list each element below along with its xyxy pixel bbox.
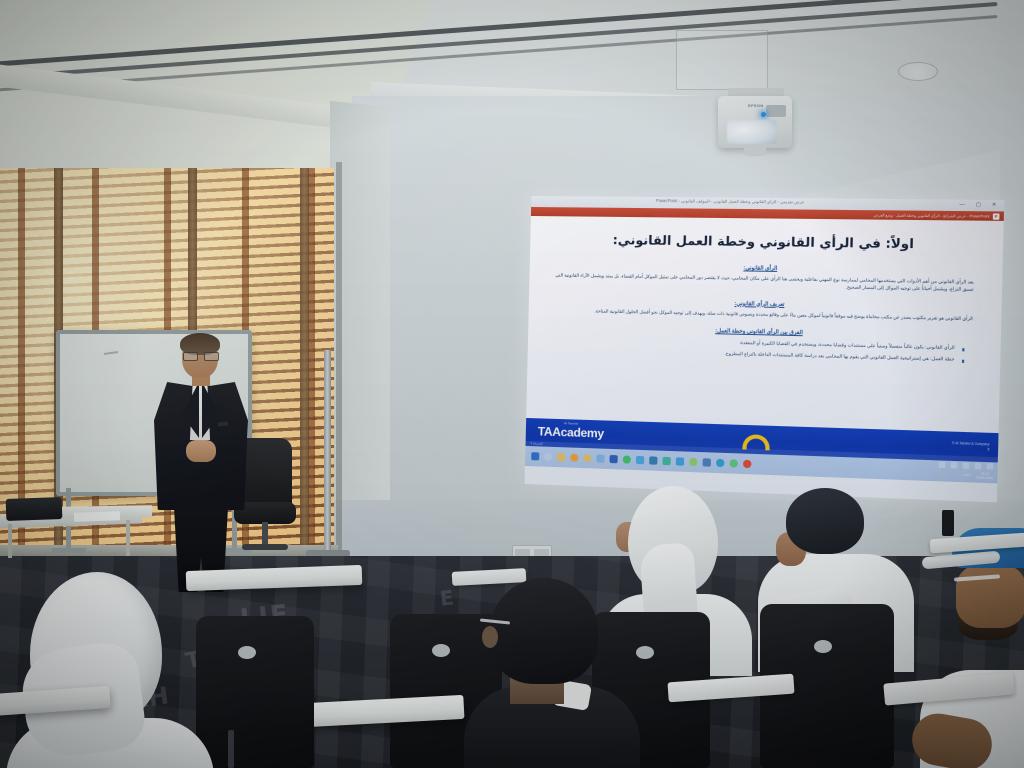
projection-screen: عرض تقديمي - الرأي القانوني وخطة العمل ا… — [525, 196, 1005, 502]
minimize-icon[interactable]: — — [959, 203, 965, 208]
attendee-hair — [490, 578, 598, 684]
projector-lens — [727, 120, 777, 144]
tray-icon-row — [939, 461, 994, 469]
attendee-far-right — [928, 520, 1024, 768]
settings-icon[interactable] — [703, 458, 711, 466]
brand-name: TAAcademy — [538, 424, 604, 440]
blind-cord — [308, 168, 315, 560]
presenter — [148, 336, 254, 588]
battery-icon[interactable] — [963, 462, 970, 469]
attendee-face — [956, 564, 1024, 628]
language-indicator[interactable]: ENG — [963, 473, 970, 477]
brand-word: Academy — [552, 425, 604, 441]
chair-frame — [228, 730, 234, 768]
classroom-scene: EPSON عرض تقديمي - الرأي القانوني وخطة ا… — [0, 0, 1024, 768]
media-icon[interactable] — [583, 454, 591, 462]
whatsapp-icon[interactable] — [623, 455, 631, 463]
laptop-bag — [6, 497, 63, 521]
tray-status-row: ENG 16:15 19/04/2025 — [963, 471, 993, 481]
slide-title: اولاً: في الرأي القانوني وخطة العمل القا… — [556, 231, 975, 252]
eyeglasses-icon — [183, 352, 217, 359]
search-icon[interactable] — [544, 453, 552, 461]
window-title: عرض تقديمي - الرأي القانوني وخطة العمل ا… — [531, 197, 936, 206]
section-body-1: يعد الرأي القانوني من أهم الأدوات التي ي… — [555, 272, 974, 293]
projector-vent — [766, 105, 786, 117]
projector-brand-label: EPSON — [748, 103, 764, 108]
desk-leg — [126, 520, 130, 556]
attendee-front-left — [6, 572, 216, 768]
papers-on-desk — [74, 511, 120, 522]
chrome-icon[interactable] — [729, 459, 738, 467]
photos-icon[interactable] — [636, 456, 644, 464]
copyright-block: © Al Tamimi & Company 5 — [952, 441, 990, 452]
chair-logo-icon — [432, 644, 450, 657]
widgets-icon[interactable] — [596, 454, 604, 462]
powerpoint-window[interactable]: عرض تقديمي - الرأي القانوني وخطة العمل ا… — [525, 196, 1005, 502]
ribbon-title: PowerPoint - عرض الشرائح - الرأي القانون… — [874, 213, 990, 218]
cap-headwear — [786, 488, 864, 554]
window-mullion — [300, 168, 309, 560]
browser-icon[interactable] — [570, 454, 578, 462]
window-controls: — ▢ ✕ — [959, 203, 1004, 209]
attendee-ear — [482, 626, 498, 648]
whiteboard-stand-foot — [52, 548, 86, 553]
whiteboard-marking — [104, 351, 118, 355]
smartphone — [942, 510, 954, 536]
screen-stand-pole — [324, 350, 331, 556]
close-icon[interactable]: ✕ — [992, 203, 997, 208]
teams-icon[interactable] — [662, 457, 670, 465]
clock-date: 19/04/2025 — [976, 476, 993, 481]
chevron-up-icon[interactable] — [939, 461, 946, 467]
start-icon[interactable] — [531, 452, 539, 460]
edge-icon[interactable] — [716, 459, 724, 467]
downlight — [898, 62, 938, 81]
projector-body: EPSON — [718, 96, 792, 148]
notes-icon[interactable] — [689, 458, 697, 466]
projector: EPSON — [718, 92, 792, 160]
projector-wall-mount — [744, 147, 766, 156]
chair-logo-icon — [814, 640, 832, 653]
taskbar-clock[interactable]: 16:15 19/04/2025 — [976, 471, 993, 480]
excel-icon[interactable] — [649, 456, 657, 464]
slide-status-text: الشريحة 5 — [531, 441, 543, 445]
maximize-icon[interactable]: ▢ — [976, 203, 981, 208]
brand-mark: TA — [538, 424, 553, 439]
slide-content: اولاً: في الرأي القانوني وخطة العمل القا… — [526, 216, 1004, 433]
attendee-center — [450, 578, 640, 768]
network-icon[interactable] — [951, 462, 958, 469]
word-icon[interactable] — [609, 455, 617, 463]
system-tray[interactable]: ENG 16:15 19/04/2025 — [938, 461, 993, 480]
presenter-hands — [186, 440, 216, 462]
chair-logo-icon — [238, 646, 256, 659]
volume-icon[interactable] — [975, 463, 982, 470]
powerpoint-app-icon: P — [993, 213, 1000, 219]
bullet-list: الرأي القانوني: يكون غالباً منفصلاً ومبن… — [554, 335, 973, 364]
taskbar-icon-group — [525, 452, 751, 468]
ceiling-access-panel — [676, 30, 768, 90]
desk-leg — [8, 524, 12, 558]
cloud-icon[interactable] — [987, 463, 994, 470]
powerpoint-icon[interactable] — [743, 460, 752, 468]
outlook-icon[interactable] — [676, 457, 684, 465]
projector-power-led-icon — [761, 112, 766, 117]
brand-block: Al Tamimi TAAcademy — [526, 422, 604, 443]
file-explorer-icon[interactable] — [557, 453, 565, 461]
